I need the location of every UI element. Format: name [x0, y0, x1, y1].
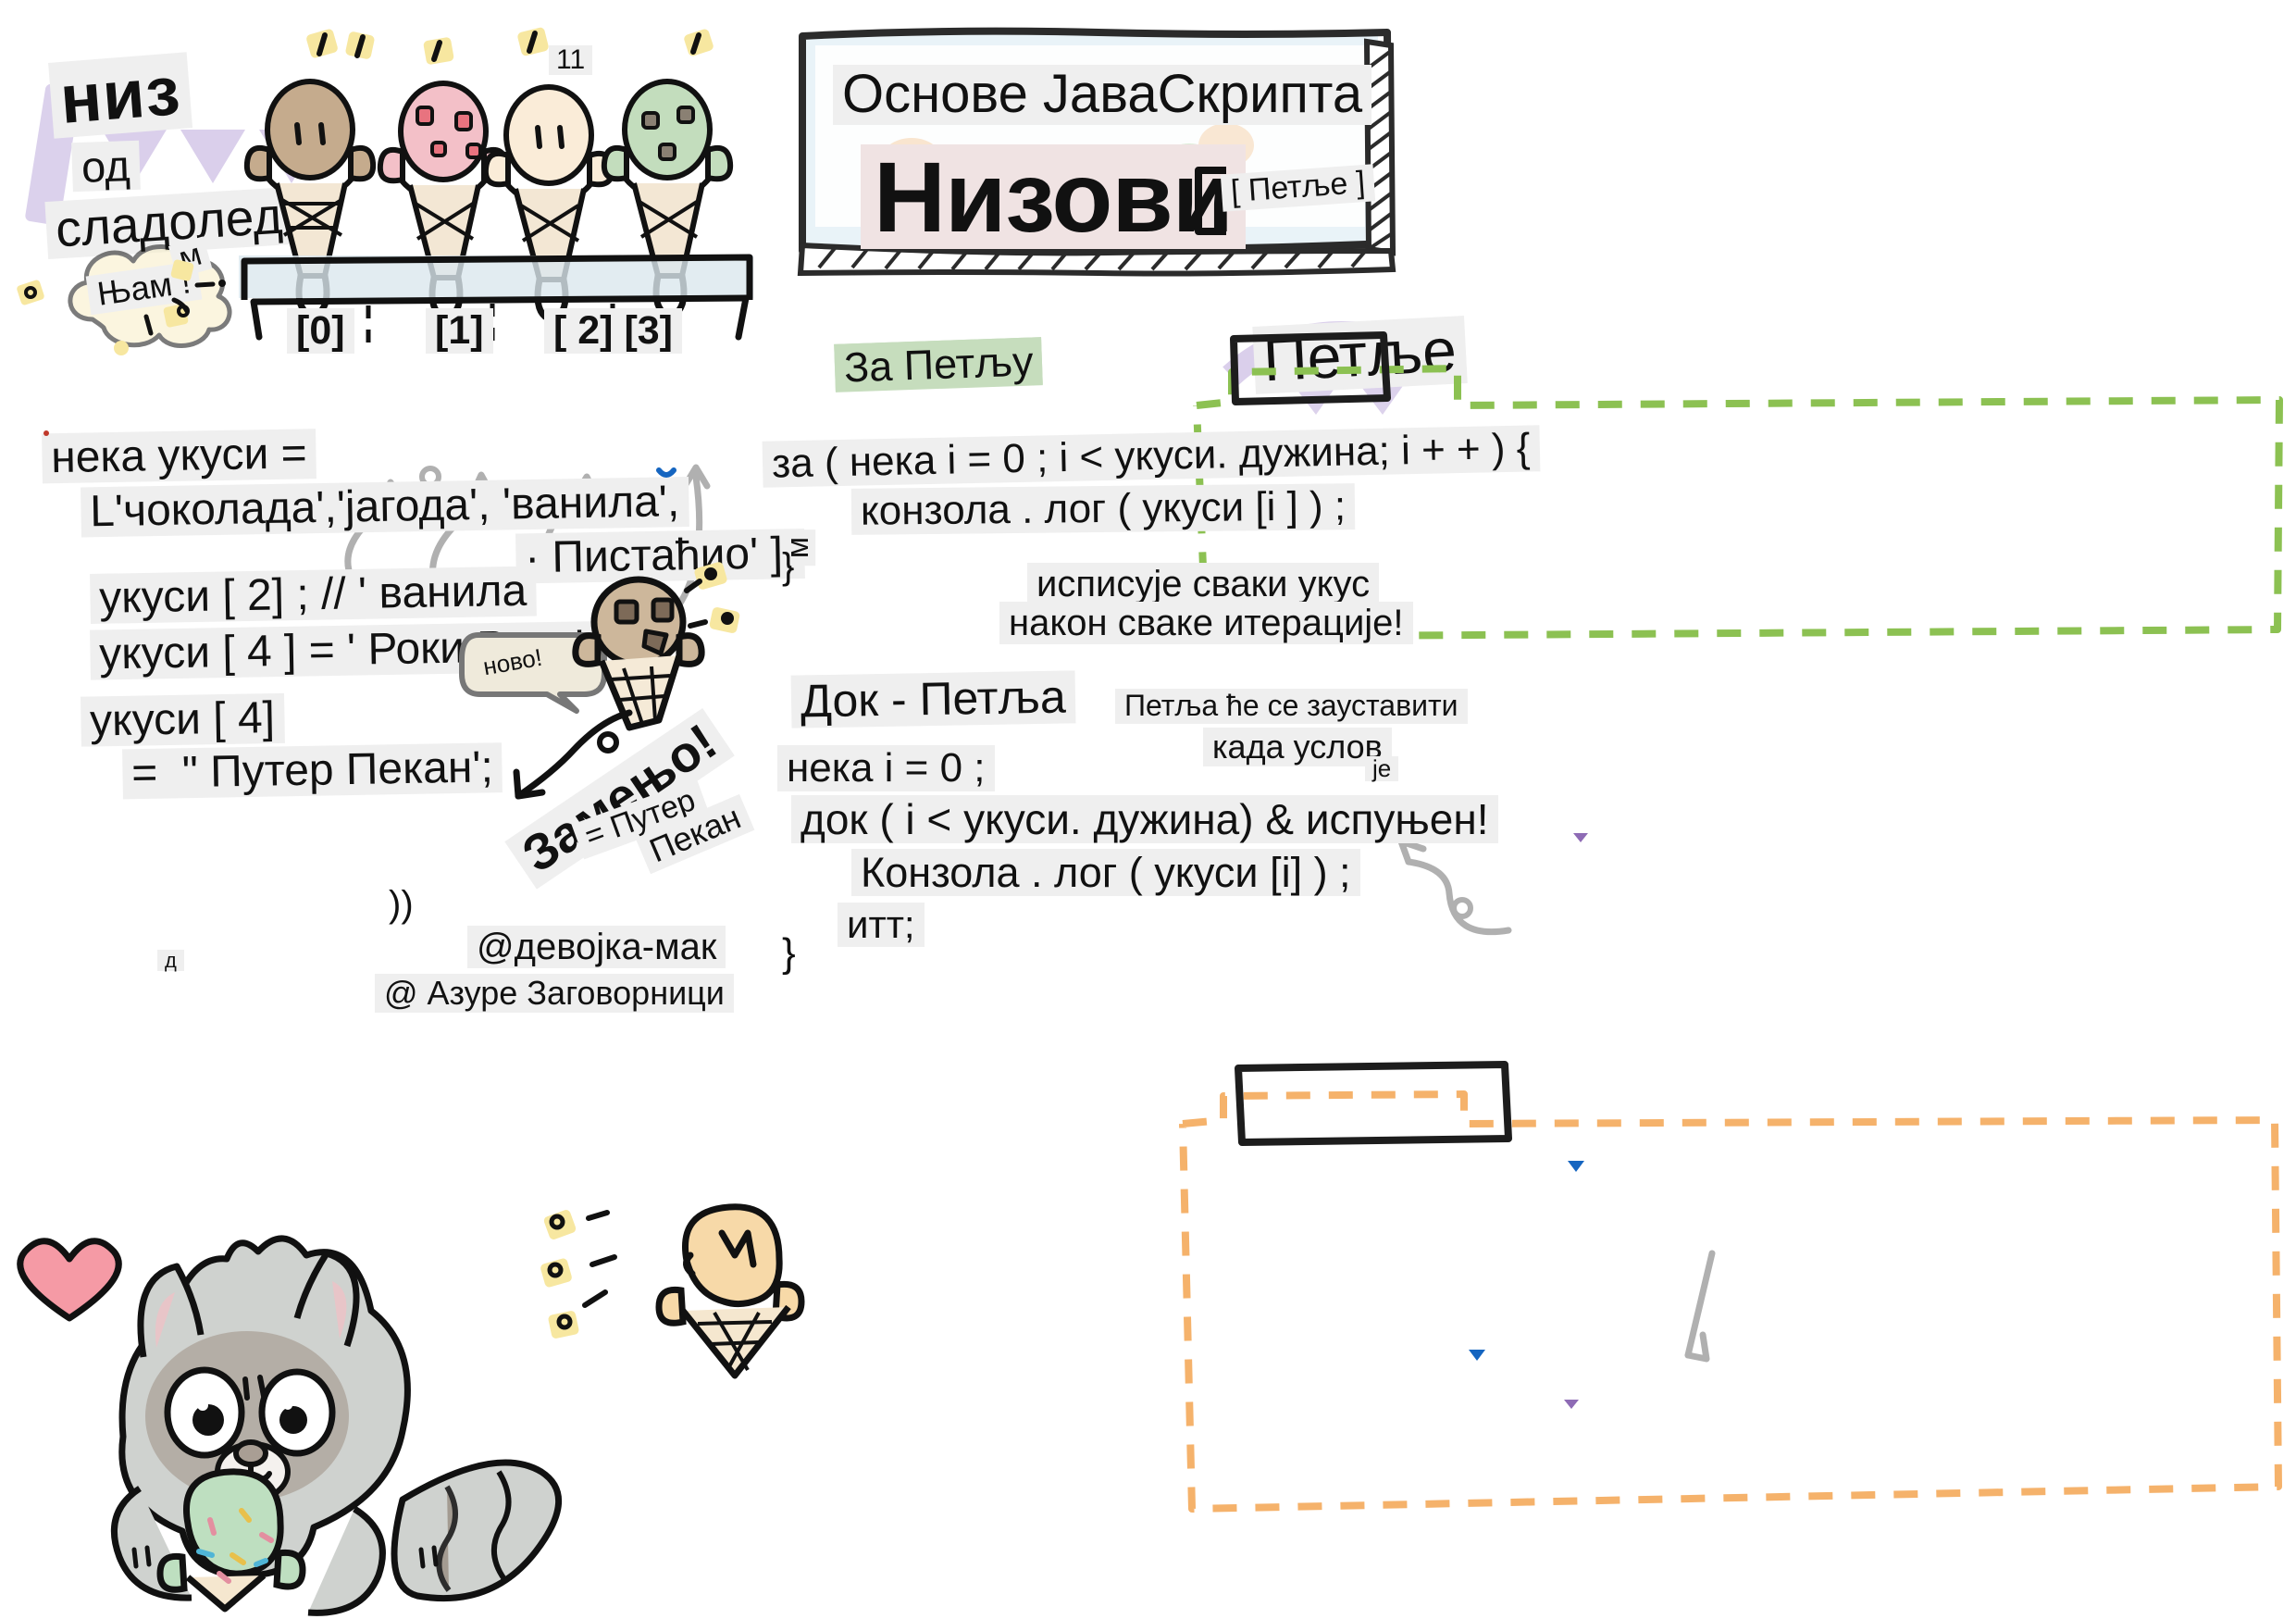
- while-loop-closing-brace: }: [782, 930, 796, 977]
- while-loop-code-line-2: док ( i < укуси. дужина) & испуњен!: [791, 794, 1498, 844]
- while-loop-badge: Док - Петља: [791, 669, 1076, 728]
- for-loop-note-arrow: [1370, 838, 1518, 940]
- for-loop-note-line-2: након сваке итерације!: [999, 602, 1413, 644]
- for-loop-note-line-1: исписује сваки укус: [1027, 563, 1379, 605]
- parens-decor: )): [389, 884, 414, 926]
- poster-subtitle: Основе ЈаваСкрипта: [833, 63, 1371, 125]
- while-loop-badge-frame: [1231, 1063, 1518, 1146]
- while-loop-note-line-1: Петља ће се зауставити: [1115, 689, 1468, 724]
- for-loop-code-line-2: конзола . лог ( укуси [i ] ) ;: [851, 483, 1356, 535]
- for-loop-badge-frame: [1226, 331, 1393, 405]
- icecream-cone-butter-pecan: [639, 1194, 824, 1379]
- for-loop-closing-brace: }: [782, 546, 794, 588]
- for-loop-badge: За Петљу: [834, 337, 1043, 392]
- credit-handle-1: @девојка-мак: [467, 926, 726, 968]
- while-loop-note-line-3: је: [1365, 754, 1398, 783]
- while-loop-code-line-3: Конзола . лог ( укуси [i] ) ;: [851, 849, 1360, 897]
- poster-title: Низови: [861, 139, 1246, 255]
- while-loop-code-line-1: нека i = 0 ;: [777, 745, 995, 791]
- raccoon-mascot-illustration: [14, 1194, 588, 1611]
- tiny-letter-d: д: [157, 949, 184, 973]
- while-loop-note-line-2: када услов: [1203, 728, 1392, 766]
- while-loop-code-line-4: итт;: [838, 903, 925, 947]
- while-loop-note-arrow: [1703, 1250, 1814, 1398]
- credit-handle-2: @ Азуре Заговорници: [375, 974, 734, 1013]
